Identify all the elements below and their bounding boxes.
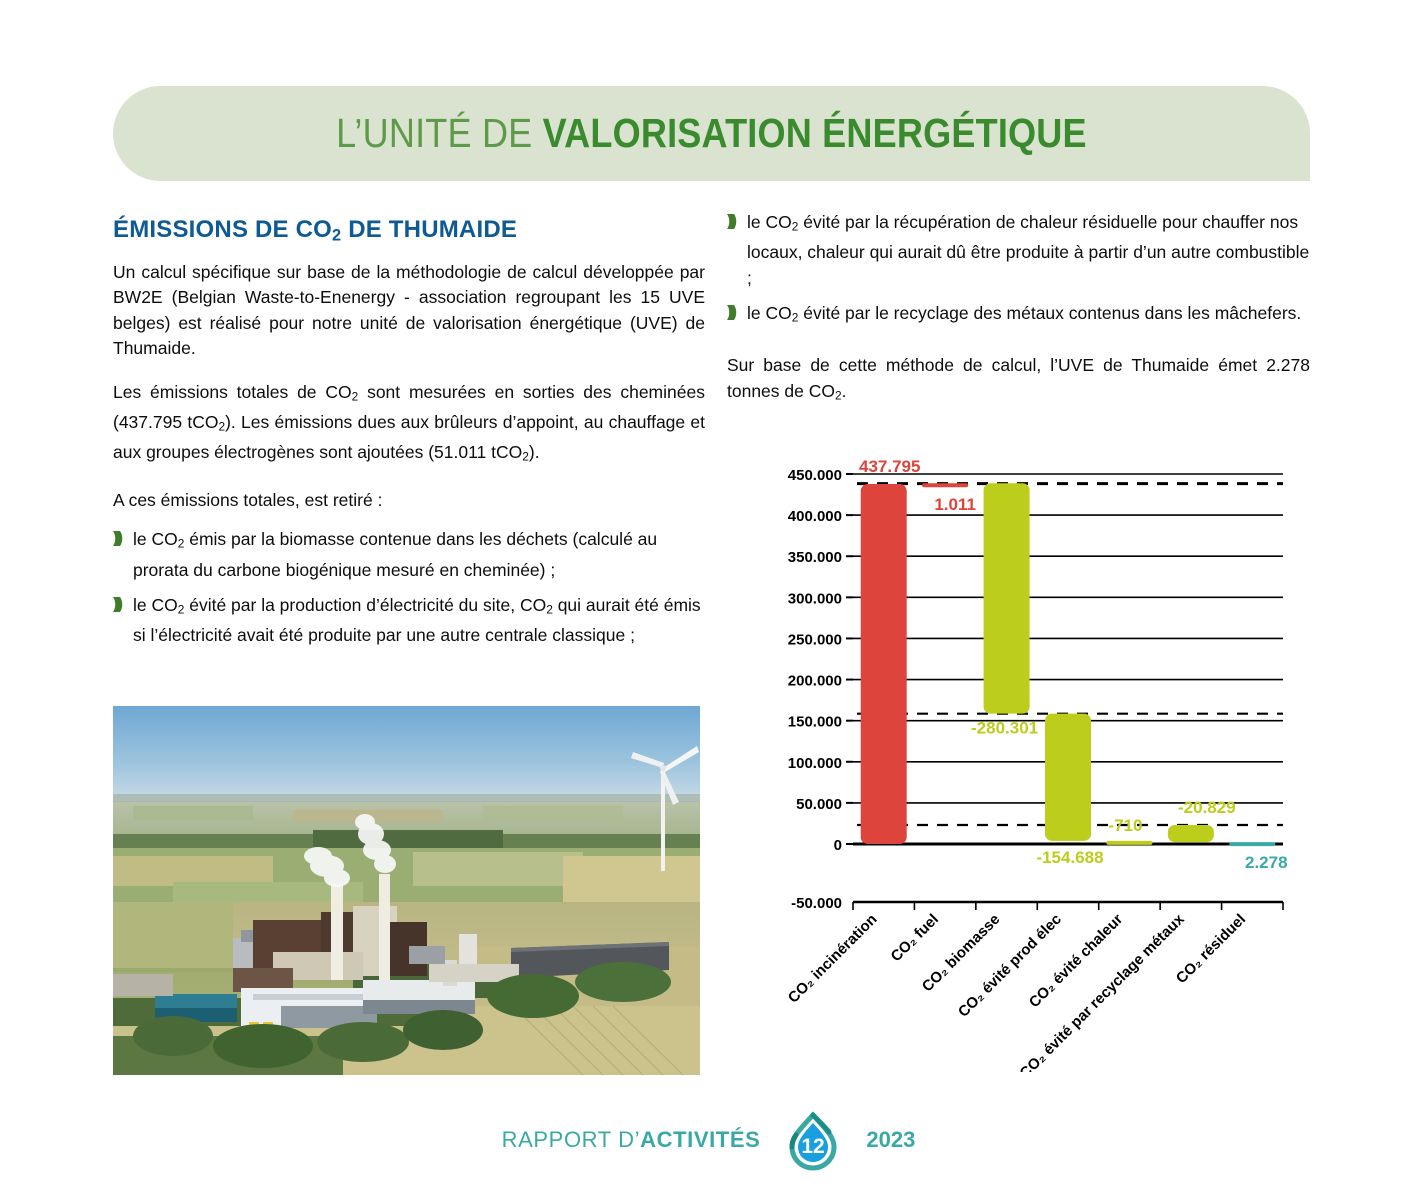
list-item: le CO2 évité par la production d’électri…	[113, 593, 705, 649]
list-item: le CO2 émis par la biomasse contenue dan…	[113, 527, 705, 583]
chart-data-label: -280.301	[971, 719, 1038, 738]
arrow-bullet-icon	[113, 597, 124, 612]
chart-bar	[1045, 714, 1091, 841]
y-axis-tick-label: 350.000	[788, 549, 842, 566]
y-axis-tick-label: 250.000	[788, 631, 842, 648]
chart-bar	[1168, 825, 1214, 842]
right-column: le CO2 évité par la récupération de chal…	[727, 210, 1310, 427]
page-number: 12	[802, 1135, 825, 1158]
paragraph-conclusion: Sur base de cette méthode de calcul, l’U…	[727, 353, 1310, 409]
co2-waterfall-chart: 050.000100.000150.000200.000250.000300.0…	[775, 452, 1295, 1072]
footer-label: RAPPORT D’ACTIVITÉS	[502, 1127, 761, 1153]
y-axis-tick-label: -50.000	[791, 895, 842, 912]
chart-data-label: 1.011	[934, 495, 976, 514]
chart-bar	[1106, 841, 1152, 845]
chart-data-label: -20.829	[1178, 798, 1236, 817]
x-axis-category-label: CO₂ évité prod élec	[955, 911, 1065, 1021]
section-title: ÉMISSIONS DE CO2 DE THUMAIDE	[113, 216, 705, 246]
chart-bars	[861, 483, 1276, 846]
y-axis-tick-label: 400.000	[788, 508, 842, 525]
chart-bar	[1229, 842, 1275, 846]
x-axis-category-label: CO₂ fuel	[888, 911, 942, 965]
footer-label-bold: ACTIVITÉS	[640, 1127, 760, 1152]
chart-category-labels: CO₂ incinérationCO₂ fuelCO₂ biomasseCO₂ …	[785, 910, 1249, 1072]
y-axis-tick-label: 50.000	[796, 796, 842, 813]
chart-svg: 050.000100.000150.000200.000250.000300.0…	[775, 452, 1295, 1072]
chart-axis-labels: 050.000100.000150.000200.000250.000300.0…	[788, 467, 842, 912]
left-column: ÉMISSIONS DE CO2 DE THUMAIDE Un calcul s…	[113, 216, 705, 665]
paragraph-deductions-intro: A ces émissions totales, est retiré :	[113, 488, 705, 514]
y-axis-tick-label: 300.000	[788, 590, 842, 607]
arrow-bullet-icon	[727, 305, 738, 320]
footer-label-light: RAPPORT D’	[502, 1127, 640, 1152]
y-axis-tick-label: 200.000	[788, 673, 842, 690]
chart-bar	[984, 483, 1030, 713]
y-axis-tick-label: 450.000	[788, 467, 842, 484]
page-title-light: L’UNITÉ DE	[336, 110, 542, 156]
x-axis-category-label: CO₂ incinération	[785, 911, 881, 1007]
list-item: le CO2 évité par la récupération de chal…	[727, 210, 1310, 291]
paragraph-methodology: Un calcul spécifique sur base de la méth…	[113, 260, 705, 362]
chart-bar	[861, 484, 907, 844]
chart-data-label: 437.795	[859, 457, 920, 476]
arrow-bullet-icon	[113, 531, 124, 546]
arrow-bullet-icon	[727, 214, 738, 229]
chart-gridlines	[846, 474, 1283, 910]
plant-aerial-photo	[113, 706, 700, 1075]
paragraph-total-emissions: Les émissions totales de CO2 sont mesuré…	[113, 380, 705, 470]
water-drop-logo-icon: 12	[782, 1109, 844, 1171]
page-title-bold: VALORISATION ÉNERGÉTIQUE	[543, 110, 1087, 156]
right-bullet-list: le CO2 évité par la récupération de chal…	[727, 210, 1310, 331]
y-axis-tick-label: 0	[834, 837, 842, 854]
list-item: le CO2 évité par le recyclage des métaux…	[727, 301, 1310, 331]
photo-illustration	[113, 706, 700, 1075]
chart-data-label: -710	[1108, 816, 1142, 835]
left-bullet-list: le CO2 émis par la biomasse contenue dan…	[113, 527, 705, 648]
page-header-banner: L’UNITÉ DE VALORISATION ÉNERGÉTIQUE	[113, 86, 1310, 181]
chart-data-label: 2.278	[1245, 853, 1288, 872]
page-footer: RAPPORT D’ACTIVITÉS 12 2023	[0, 1100, 1417, 1180]
chart-bar	[922, 483, 968, 487]
y-axis-tick-label: 100.000	[788, 755, 842, 772]
page-title: L’UNITÉ DE VALORISATION ÉNERGÉTIQUE	[336, 110, 1087, 157]
y-axis-tick-label: 150.000	[788, 714, 842, 731]
page: L’UNITÉ DE VALORISATION ÉNERGÉTIQUE ÉMIS…	[0, 0, 1417, 1191]
chart-data-label: -154.688	[1036, 848, 1103, 867]
footer-year: 2023	[866, 1127, 915, 1153]
